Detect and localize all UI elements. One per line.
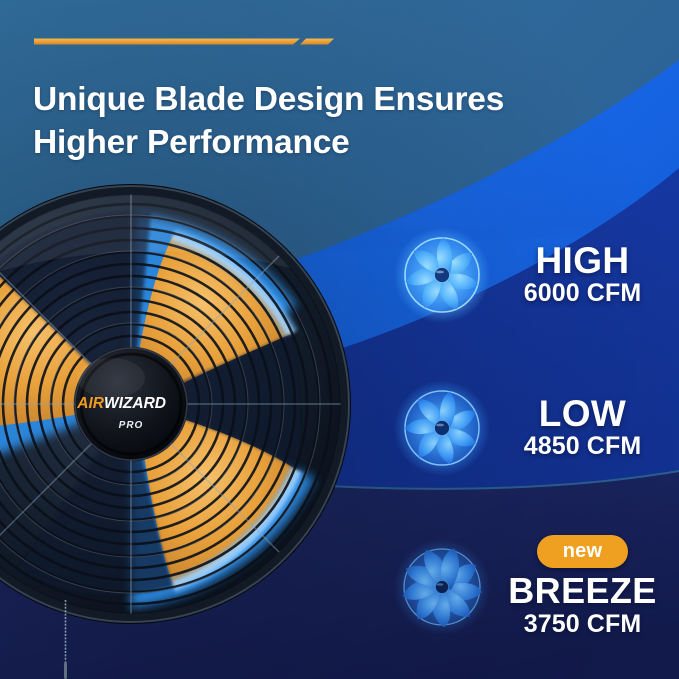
fan-icon — [392, 378, 492, 478]
headline-line-2: Higher Performance — [33, 122, 593, 164]
speed-cfm: 6000 CFM — [496, 279, 669, 308]
speed-name: LOW — [496, 395, 669, 433]
speed-label-group: HIGH 6000 CFM — [496, 242, 679, 308]
product-infographic: Unique Blade Design Ensures Higher Perfo… — [0, 0, 679, 679]
brand-suffix: WIZARD — [104, 395, 166, 412]
accent-rule — [34, 33, 334, 42]
pull-chain-icon — [63, 600, 68, 679]
brand-sub: PRO — [119, 420, 144, 431]
speed-cfm: 4850 CFM — [496, 432, 669, 461]
speed-row-low: LOW 4850 CFM — [384, 368, 679, 488]
fan-product-illustration: AIR WIZARD PRO — [0, 178, 357, 630]
brand-prefix: AIR — [76, 395, 105, 412]
new-badge: new — [537, 535, 629, 568]
speed-row-breeze: new BREEZE 3750 CFM — [384, 527, 679, 647]
speed-label-group: new BREEZE 3750 CFM — [496, 535, 679, 638]
speed-cfm: 3750 CFM — [496, 610, 669, 639]
speed-label-group: LOW 4850 CFM — [496, 395, 679, 461]
fan-icon — [392, 225, 492, 325]
pull-chain — [63, 600, 68, 679]
speed-row-high: HIGH 6000 CFM — [384, 215, 679, 335]
headline-line-1: Unique Blade Design Ensures — [33, 81, 504, 118]
speed-name: HIGH — [496, 242, 669, 280]
speed-name: BREEZE — [496, 573, 669, 610]
fan-blades-icon — [392, 378, 492, 478]
accent-rule-icon — [34, 37, 334, 46]
page-title: Unique Blade Design Ensures Higher Perfo… — [33, 79, 593, 163]
fan-blades-icon — [392, 225, 492, 325]
fan-blades-icon — [392, 537, 492, 637]
fan-icon — [392, 537, 492, 637]
product-image: AIR WIZARD PRO — [0, 178, 357, 630]
